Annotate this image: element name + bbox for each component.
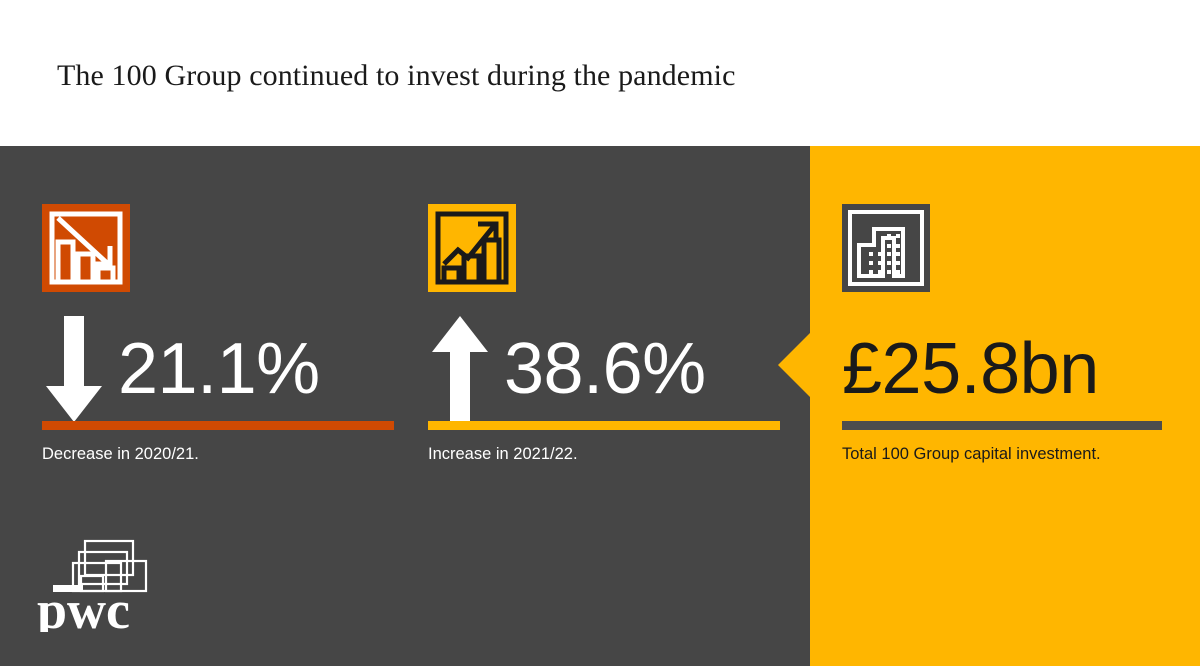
- stat-rule-orange: [42, 421, 394, 430]
- infographic-page: The 100 Group continued to invest during…: [0, 0, 1200, 666]
- stat-caption: Increase in 2021/22.: [428, 443, 578, 465]
- stat-value: £25.8bn: [842, 333, 1099, 405]
- stat-value: 21.1%: [118, 333, 320, 405]
- stat-value-row-increase: 38.6%: [428, 314, 706, 424]
- pwc-logo: pwc: [33, 532, 183, 632]
- stat-value: 38.6%: [504, 333, 706, 405]
- office-building-icon: [842, 204, 930, 292]
- down-arrow-icon: [42, 314, 104, 424]
- up-arrow-icon: [428, 314, 490, 424]
- increasing-bar-chart-icon: [428, 204, 516, 292]
- decreasing-bar-chart-icon: [42, 204, 130, 292]
- stat-caption: Total 100 Group capital investment.: [842, 443, 1101, 465]
- stat-value-row-total: £25.8bn: [842, 314, 1099, 424]
- stat-value-row-decrease: 21.1%: [42, 314, 320, 424]
- page-title: The 100 Group continued to invest during…: [57, 56, 735, 96]
- stat-rule-dark: [842, 421, 1162, 430]
- panel-arrow-notch: [778, 332, 811, 398]
- stat-rule-yellow: [428, 421, 780, 430]
- pwc-wordmark: pwc: [37, 580, 130, 632]
- stat-caption: Decrease in 2020/21.: [42, 443, 199, 465]
